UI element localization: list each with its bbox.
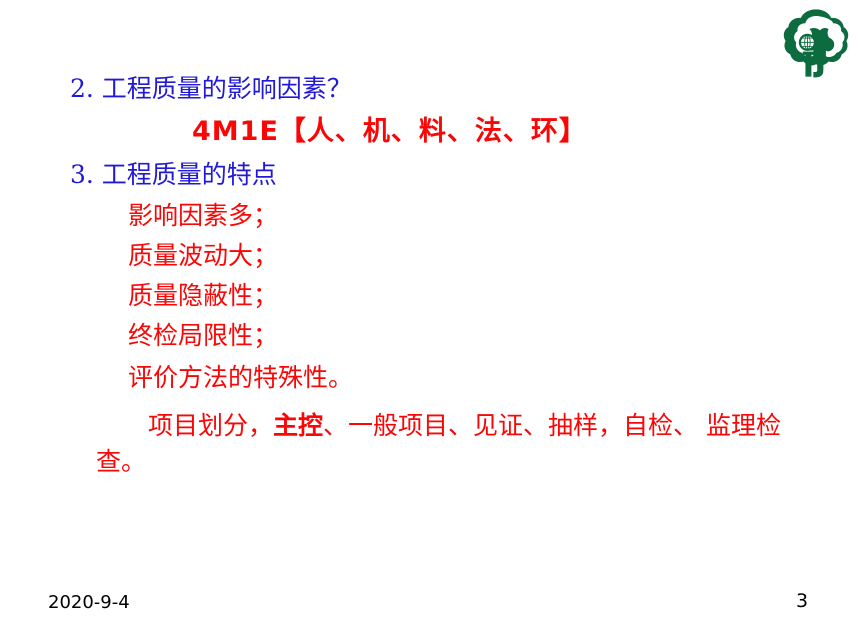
project-division-paragraph: 项目划分，主控、一般项目、见证、抽样，自检、 监理检查。 <box>96 408 796 480</box>
four-m-one-e-emphasis: 4M1E【人、机、料、法、环】 <box>192 118 587 145</box>
feature-item-3: 质量隐蔽性； <box>128 283 278 308</box>
feature-item-5: 评价方法的特殊性。 <box>128 365 353 390</box>
question-3-heading: 3. 工程质量的特点 <box>70 162 277 187</box>
paragraph-lead-text: 项目划分， <box>148 411 273 440</box>
footer-date: 2020-9-4 <box>48 592 130 613</box>
tree-globe-logo <box>783 8 849 78</box>
paragraph-bold-term: 主控 <box>273 411 323 440</box>
footer-page-number: 3 <box>796 590 808 612</box>
feature-item-2: 质量波动大； <box>128 243 278 268</box>
feature-item-4: 终检局限性； <box>128 323 278 348</box>
presentation-slide: 2. 工程质量的影响因素？ 4M1E【人、机、料、法、环】 3. 工程质量的特点… <box>0 0 862 643</box>
feature-item-1: 影响因素多； <box>128 203 278 228</box>
question-2-heading: 2. 工程质量的影响因素？ <box>70 76 352 101</box>
